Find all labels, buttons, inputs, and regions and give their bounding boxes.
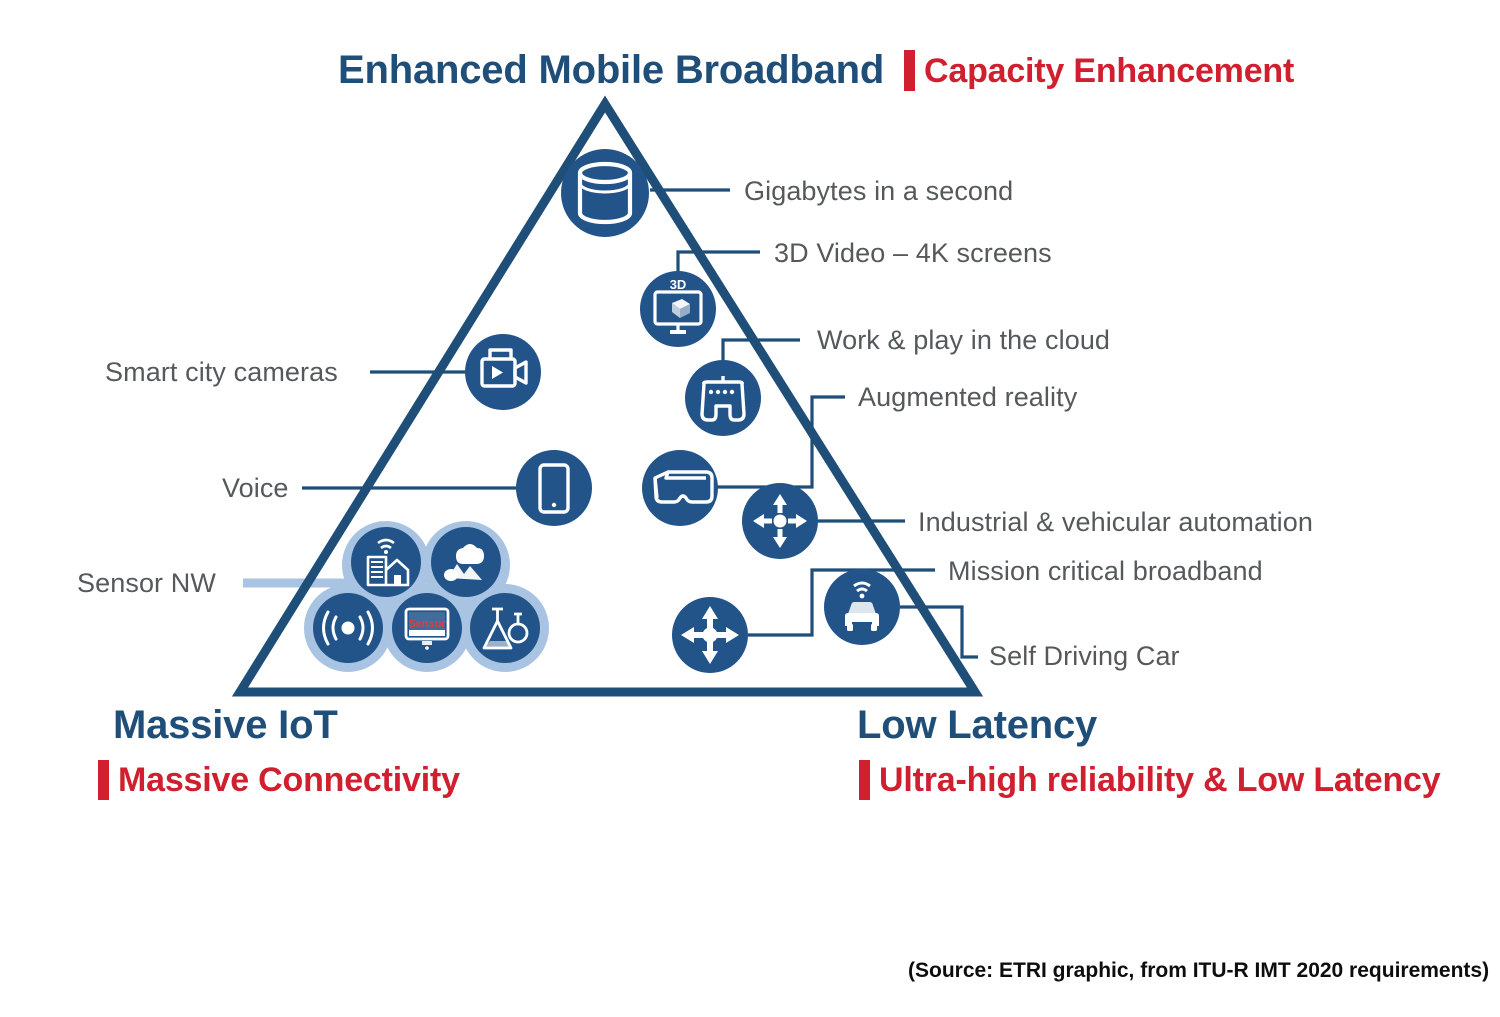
icon-smartphone[interactable] (516, 450, 592, 526)
icon-cloud-weather[interactable] (431, 527, 501, 597)
icon-four-arrows-lower[interactable] (672, 597, 748, 673)
icon-gamepad[interactable] (685, 360, 761, 436)
callout-smart-city-cameras: Smart city cameras (105, 357, 338, 388)
callout-cloud: Work & play in the cloud (817, 325, 1110, 356)
icon-connected-car[interactable] (824, 569, 900, 645)
callout-sensor-nw: Sensor NW (77, 568, 216, 599)
icon-monitor-3d[interactable]: 3D (640, 271, 716, 347)
callout-mission-critical: Mission critical broadband (948, 556, 1263, 587)
callout-gigabytes: Gigabytes in a second (744, 176, 1013, 207)
icon-smart-building-wifi[interactable] (351, 527, 421, 597)
icon-wireless-signal[interactable] (313, 593, 383, 663)
corner-subtitle-low-latency: Ultra-high reliability & Low Latency (879, 761, 1440, 800)
source-note: (Source: ETRI graphic, from ITU-R IMT 20… (908, 959, 1489, 983)
corner-subtitle-massive-iot: Massive Connectivity (118, 761, 460, 800)
icon-four-arrows-upper[interactable] (742, 483, 818, 559)
corner-title-massive-iot: Massive IoT (113, 703, 338, 748)
icon-vr-headset[interactable] (642, 450, 718, 526)
icon-video-camera[interactable] (465, 334, 541, 410)
red-bar-low-latency (859, 760, 870, 800)
icon-sensor-display[interactable]: Sensor (392, 593, 462, 663)
callout-industrial: Industrial & vehicular automation (918, 507, 1313, 538)
badge-3d-label: 3D (670, 277, 687, 292)
leader-3d-video (678, 252, 760, 272)
sensor-screen-label: Sensor (408, 618, 446, 630)
icon-cluster-sensor-nw[interactable]: Sensor (304, 521, 549, 672)
callout-3d-video: 3D Video – 4K screens (774, 238, 1052, 269)
callout-augmented-reality: Augmented reality (858, 382, 1077, 413)
diagram-canvas: 3D (0, 0, 1500, 1017)
corner-title-embb: Enhanced Mobile Broadband (338, 48, 884, 93)
red-bar-massive-iot (98, 760, 109, 800)
callout-self-driving-car: Self Driving Car (989, 641, 1180, 672)
red-bar-embb (904, 50, 915, 91)
icon-database[interactable] (561, 149, 649, 237)
callout-voice: Voice (222, 473, 289, 504)
corner-title-low-latency: Low Latency (857, 703, 1097, 748)
corner-subtitle-embb: Capacity Enhancement (924, 52, 1294, 91)
icon-lab-flask[interactable] (470, 593, 540, 663)
